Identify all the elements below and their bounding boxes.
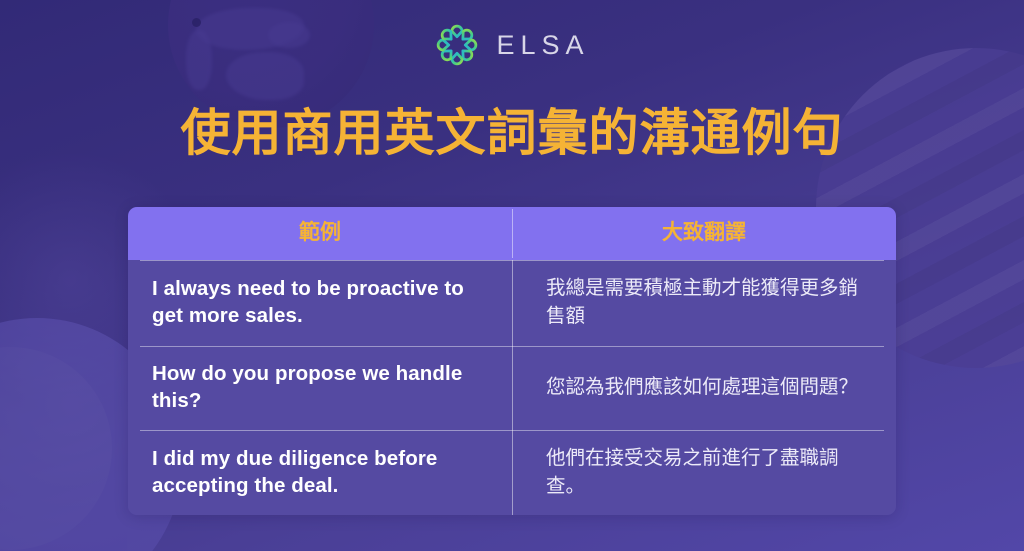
elsa-flower-logo-icon [434,22,480,68]
page-title: 使用商用英文詞彙的溝通例句 [0,104,1024,162]
brand-header: ELSA [0,22,1024,68]
table-row: I did my due diligence before accepting … [128,430,896,515]
example-text: How do you propose we handle this? [152,360,490,415]
cell-example: I did my due diligence before accepting … [128,430,512,515]
cell-example: How do you propose we handle this? [128,346,512,431]
column-header-translation: 大致翻譯 [512,207,896,260]
example-text: I did my due diligence before accepting … [152,445,490,500]
table-row: I always need to be proactive to get mor… [128,260,896,345]
slide-canvas: ELSA 使用商用英文詞彙的溝通例句 範例 大致翻譯 I always need… [0,0,1024,551]
example-text: I always need to be proactive to get mor… [152,275,490,330]
brand-wordmark: ELSA [494,32,589,59]
translation-text: 您認為我們應該如何處理這個問題？ [546,373,858,401]
translation-text: 我總是需要積極主動才能獲得更多銷售額 [546,274,874,329]
translation-text: 他們在接受交易之前進行了盡職調查。 [546,444,874,499]
table-row: How do you propose we handle this? 您認為我們… [128,346,896,431]
table-header-row: 範例 大致翻譯 [128,207,896,260]
cell-translation: 我總是需要積極主動才能獲得更多銷售額 [512,260,896,345]
examples-table: 範例 大致翻譯 I always need to be proactive to… [128,207,896,515]
column-header-example: 範例 [128,207,512,260]
cell-translation: 他們在接受交易之前進行了盡職調查。 [512,430,896,515]
cell-example: I always need to be proactive to get mor… [128,260,512,345]
cell-translation: 您認為我們應該如何處理這個問題？ [512,346,896,431]
